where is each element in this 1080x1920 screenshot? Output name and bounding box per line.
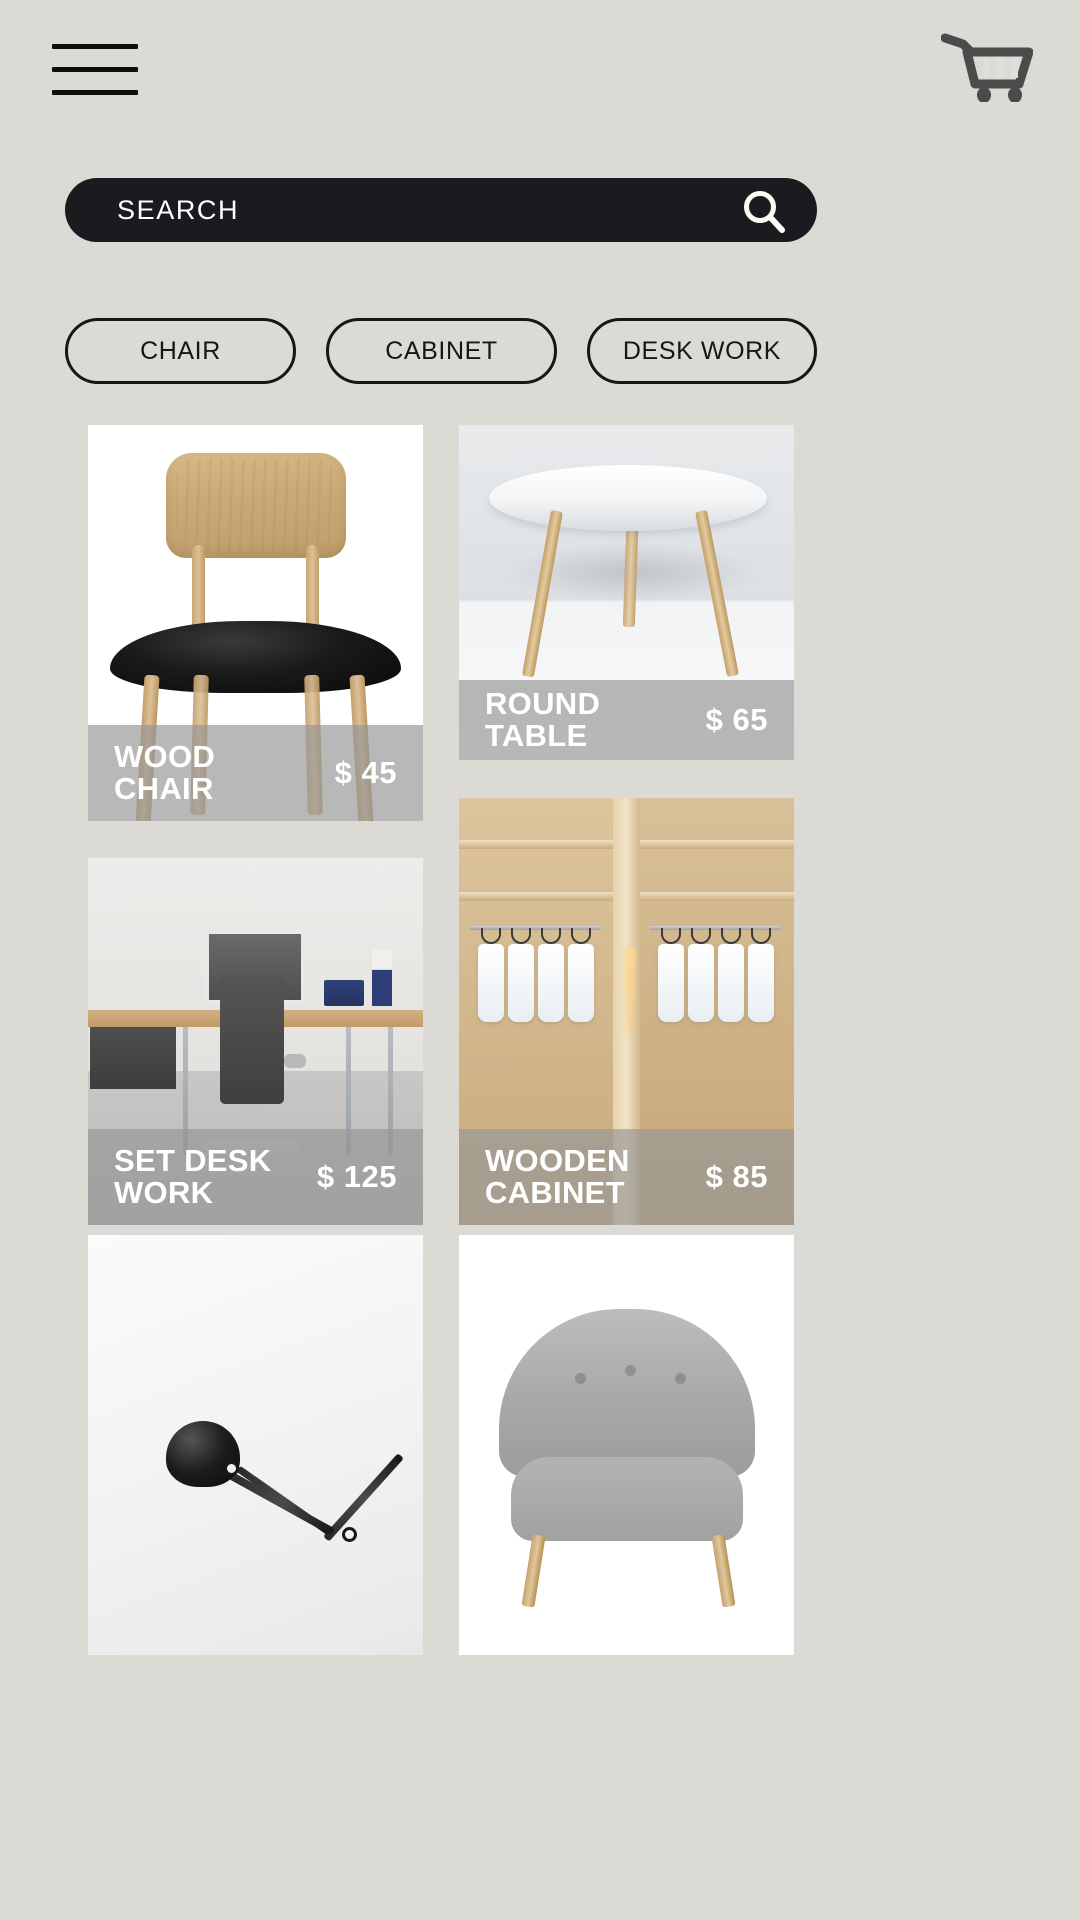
product-title: SET DESK WORK: [114, 1145, 289, 1209]
category-filter-bar: CHAIR CABINET DESK WORK: [65, 318, 817, 384]
category-pill-label: CABINET: [385, 337, 498, 366]
armchair-leg-left: [521, 1534, 545, 1607]
hanging-shirt: [508, 944, 534, 1022]
product-card[interactable]: [459, 1235, 794, 1655]
product-title: ROUND TABLE: [485, 688, 660, 752]
lamp-arm-mid: [236, 1466, 332, 1536]
product-card[interactable]: SET DESK WORK $ 125: [88, 858, 423, 1225]
armchair-leg-right: [711, 1534, 735, 1607]
office-chair-arm: [284, 1054, 306, 1068]
cabinet-shelf: [459, 840, 613, 849]
armchair-backrest: [499, 1309, 755, 1477]
product-info-overlay: ROUND TABLE $ 65: [459, 680, 794, 760]
cabinet-shelf: [640, 840, 794, 849]
lamp-joint-lower: [342, 1527, 357, 1542]
category-pill-cabinet[interactable]: CABINET: [326, 318, 557, 384]
app-header: [0, 0, 1080, 150]
armchair-tuft: [575, 1373, 586, 1384]
product-card[interactable]: WOODEN CABINET $ 85: [459, 798, 794, 1225]
product-price: $ 85: [706, 1159, 768, 1195]
category-pill-label: DESK WORK: [623, 337, 781, 366]
hanging-shirt: [748, 944, 774, 1022]
hamburger-menu-icon[interactable]: [52, 44, 138, 96]
lamp-arm-lower: [323, 1453, 404, 1542]
shopping-cart-icon[interactable]: [941, 30, 1033, 102]
product-card[interactable]: WOOD CHAIR $ 45: [88, 425, 423, 821]
category-pill-desk-work[interactable]: DESK WORK: [587, 318, 817, 384]
product-price: $ 125: [317, 1159, 397, 1195]
desk-book: [372, 950, 392, 1006]
product-card[interactable]: [88, 1235, 423, 1655]
hanging-shirt: [718, 944, 744, 1022]
product-info-overlay: WOOD CHAIR $ 45: [88, 725, 423, 821]
hanging-shirt: [538, 944, 564, 1022]
product-title: WOOD CHAIR: [114, 741, 289, 805]
cabinet-shelf: [459, 892, 613, 901]
magnifier-icon[interactable]: [741, 188, 787, 234]
hanging-shirt: [658, 944, 684, 1022]
chair-backrest: [166, 453, 346, 558]
hamburger-bar-3: [52, 90, 138, 95]
product-title: WOODEN CABINET: [485, 1145, 660, 1209]
search-bar[interactable]: SEARCH: [65, 178, 817, 242]
hamburger-bar-2: [52, 67, 138, 72]
office-chair-back: [220, 976, 284, 1104]
product-info-overlay: SET DESK WORK $ 125: [88, 1129, 423, 1225]
table-top: [489, 465, 767, 531]
armchair-tuft: [675, 1373, 686, 1384]
hanging-shirt: [478, 944, 504, 1022]
category-pill-label: CHAIR: [140, 337, 221, 366]
product-price: $ 65: [706, 702, 768, 738]
product-grid: WOOD CHAIR $ 45 ROUND TABLE $ 65: [0, 425, 1080, 1920]
product-price: $ 45: [335, 755, 397, 791]
desk-paper-tray: [324, 980, 364, 1006]
desk-lamp-photo: [88, 1235, 423, 1655]
cabinet-shelf: [640, 892, 794, 901]
hamburger-bar-1: [52, 44, 138, 49]
product-info-overlay: WOODEN CABINET $ 85: [459, 1129, 794, 1225]
hanging-shirt: [568, 944, 594, 1022]
armchair-tuft: [625, 1365, 636, 1376]
product-card[interactable]: ROUND TABLE $ 65: [459, 425, 794, 760]
search-input[interactable]: SEARCH: [117, 195, 239, 226]
app-screen: SEARCH CHAIR CABINET DESK WORK: [0, 0, 1080, 1920]
lamp-joint-upper: [224, 1461, 239, 1476]
armchair-seat: [511, 1457, 743, 1541]
desk-pedestal: [90, 1027, 176, 1089]
armchair-photo: [459, 1235, 794, 1655]
lamp-shade: [166, 1421, 240, 1487]
category-pill-chair[interactable]: CHAIR: [65, 318, 296, 384]
hanging-shirt: [688, 944, 714, 1022]
cabinet-light-strip: [625, 948, 635, 1032]
